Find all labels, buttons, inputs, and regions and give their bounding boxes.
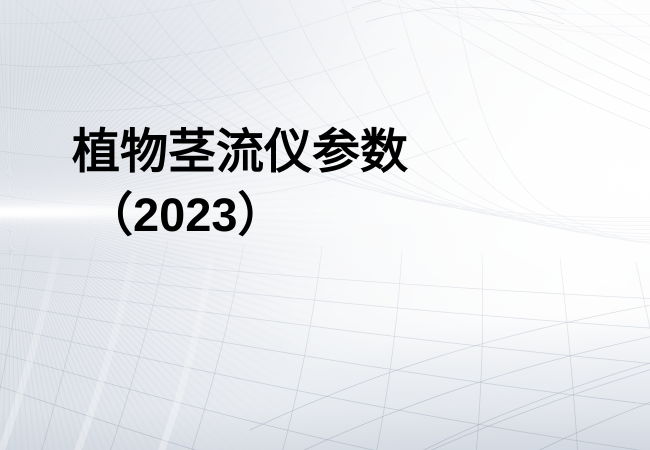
title-slide: 植物茎流仪参数 （2023） xyxy=(0,0,650,450)
slide-title-line-1: 植物茎流仪参数 xyxy=(0,128,650,178)
slide-title-block: 植物茎流仪参数 （2023） xyxy=(0,128,650,240)
slide-title-line-2: （2023） xyxy=(0,190,650,239)
